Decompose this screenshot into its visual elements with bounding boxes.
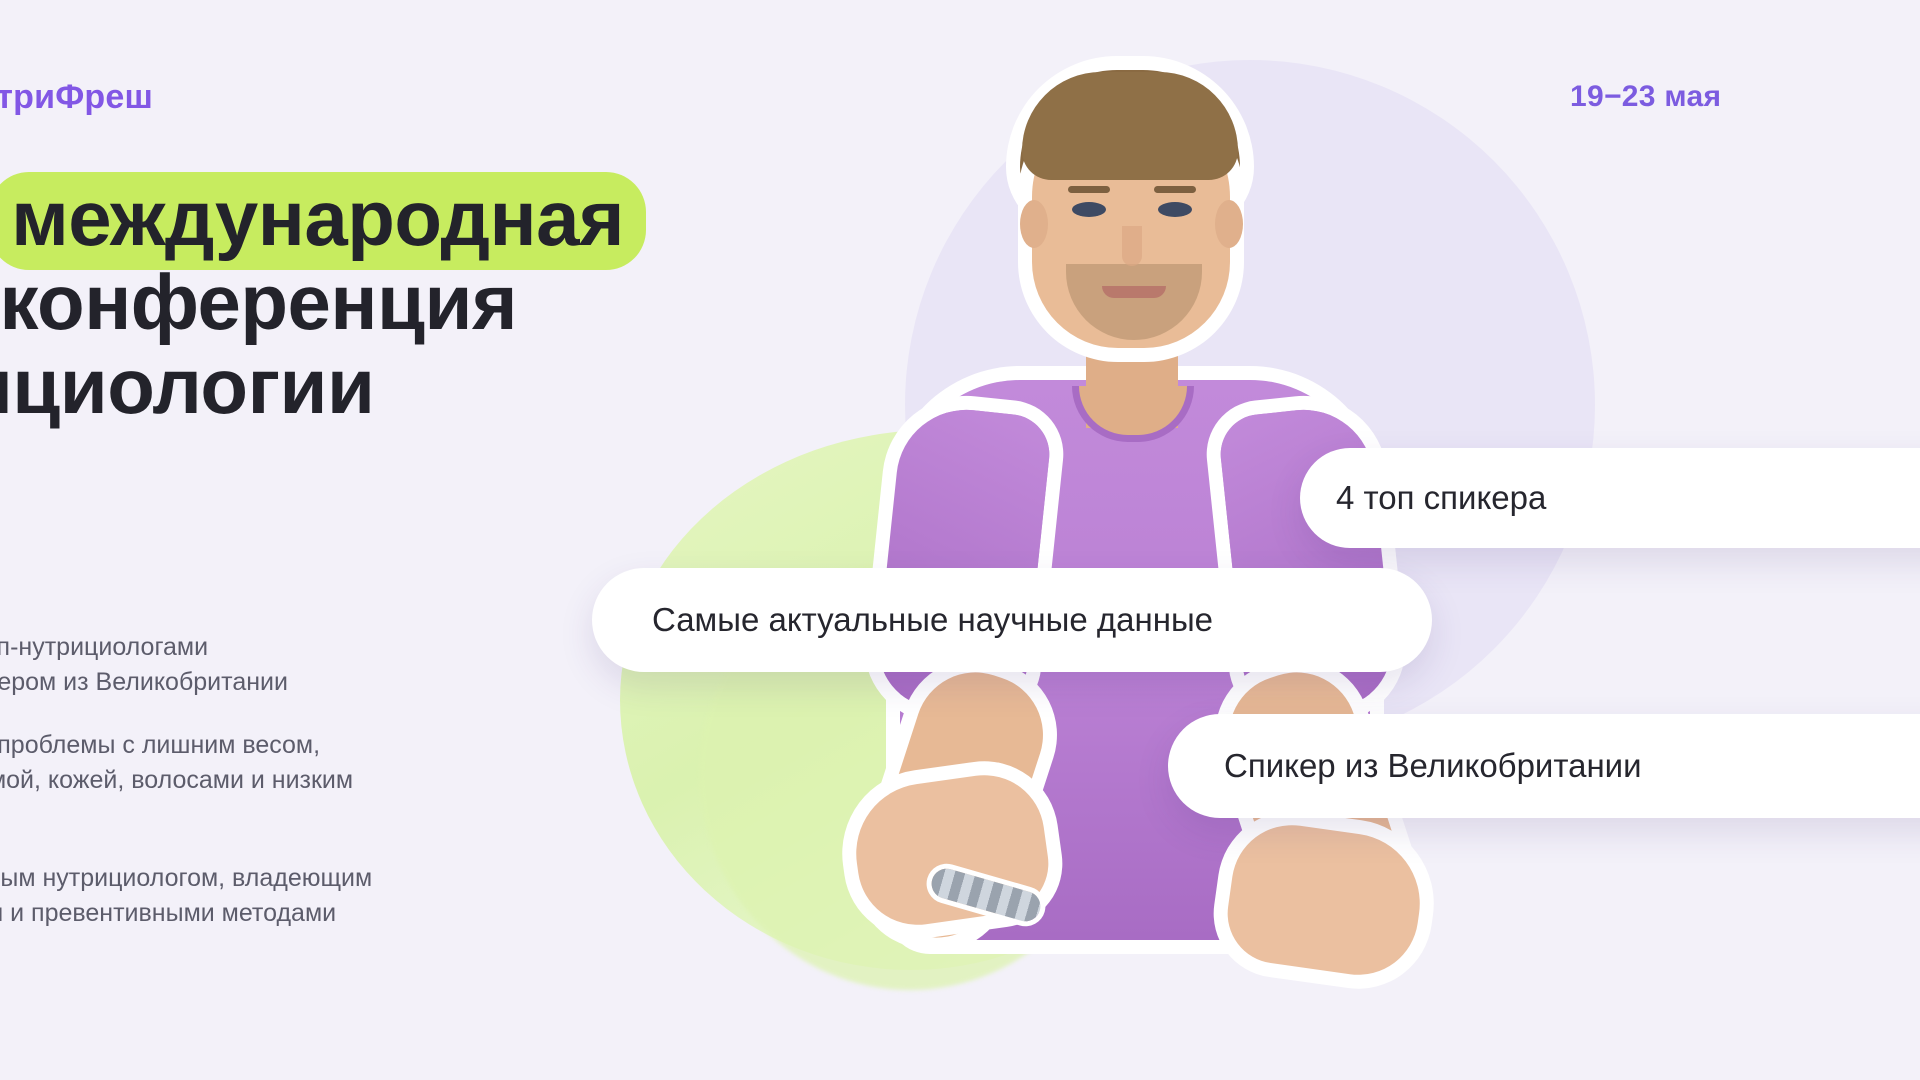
description-line: ебованным нутрициологом, владеющим [0,861,664,896]
eyebrow-right [1154,186,1196,193]
headline-highlight-word: международная [0,172,646,270]
hero-description: ров с топ-нутрициологами ым спикером из … [0,630,664,931]
headline-line-1: ая международная [0,176,980,260]
description-paragraph-1: ров с топ-нутрициологами ым спикером из … [0,630,664,700]
eye-left [1072,202,1106,217]
eye-right [1158,202,1192,217]
description-line: тозными и превентивными методами [0,896,664,931]
description-line: решить проблемы с лишним весом, [0,728,664,763]
description-line: ым спикером из Великобритании [0,665,664,700]
headline-line-2: йн-конференция [0,260,980,344]
photo-white-outline [840,50,1480,1080]
hair-top-shape [1022,72,1238,180]
page-title: ая международная йн-конференция трициоло… [0,176,980,429]
callout-scientific-data: Самые актуальные научные данные [592,568,1432,672]
mouth [1102,286,1166,298]
description-line: й системой, кожей, волосами и низким [0,763,664,798]
ear-right [1215,200,1243,248]
description-line: ров с топ-нутрициологами [0,630,664,665]
ear-left [1020,200,1048,248]
nose [1122,226,1142,266]
description-paragraph-3: ебованным нутрициологом, владеющим тозны… [0,861,664,931]
description-paragraph-2: решить проблемы с лишним весом, й систем… [0,728,664,833]
description-line: гии [0,798,664,833]
headline-line-3: трициологии [0,344,980,428]
speaker-photo [840,50,1480,1080]
hand-right [1221,817,1429,982]
callout-top-speakers: 4 топ спикера [1300,448,1920,548]
event-date-badge: 19−23 мая [1570,80,1721,114]
brand-logo[interactable]: НутриФреш [0,78,153,117]
callout-uk-speaker: Спикер из Великобритании [1168,714,1920,818]
eyebrow-left [1068,186,1110,193]
